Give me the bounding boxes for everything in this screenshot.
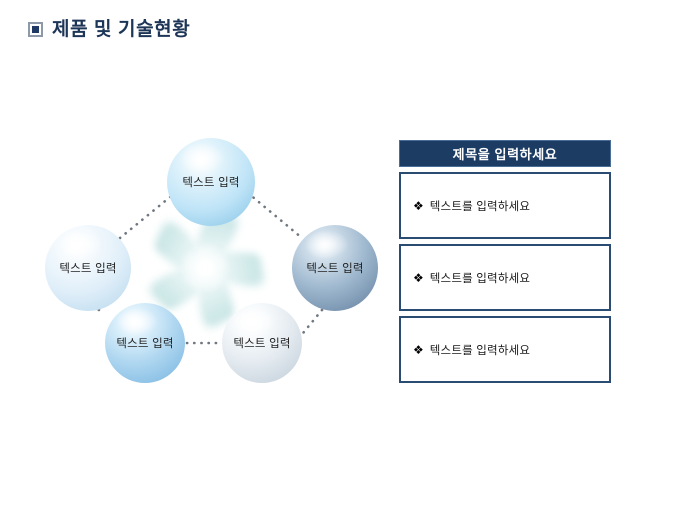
diagram-node-bottom-right[interactable]: 텍스트 입력 [222,303,302,383]
panel-box-text: 텍스트를 입력하세요 [430,342,530,358]
diagram-node-top[interactable]: 텍스트 입력 [167,138,255,226]
square-in-square-icon [28,22,43,37]
panel-box-text: 텍스트를 입력하세요 [430,198,530,214]
diagram-node-label: 텍스트 입력 [306,260,363,276]
five-node-cycle-diagram: 텍스트 입력 텍스트 입력 텍스트 입력 텍스트 입력 텍스트 입력 [40,130,370,420]
diagram-node-label: 텍스트 입력 [182,174,239,190]
text-panel: 제목을 입력하세요 ❖ 텍스트를 입력하세요 ❖ 텍스트를 입력하세요 ❖ 텍스… [399,140,611,383]
page-title-text: 제품 및 기술현황 [52,20,190,39]
panel-box-1[interactable]: ❖ 텍스트를 입력하세요 [399,172,611,239]
panel-box-3[interactable]: ❖ 텍스트를 입력하세요 [399,316,611,383]
diagram-node-label: 텍스트 입력 [116,335,173,351]
panel-box-2[interactable]: ❖ 텍스트를 입력하세요 [399,244,611,311]
diagram-node-right[interactable]: 텍스트 입력 [292,225,378,311]
diagram-node-label: 텍스트 입력 [59,260,116,276]
panel-header[interactable]: 제목을 입력하세요 [399,140,611,167]
page-title: 제품 및 기술현황 [28,20,190,39]
diamond-bullet-icon: ❖ [413,272,424,284]
panel-header-text: 제목을 입력하세요 [453,144,558,163]
diagram-node-label: 텍스트 입력 [233,335,290,351]
panel-box-text: 텍스트를 입력하세요 [430,270,530,286]
diamond-bullet-icon: ❖ [413,200,424,212]
diagram-node-bottom-left[interactable]: 텍스트 입력 [105,303,185,383]
diamond-bullet-icon: ❖ [413,344,424,356]
diagram-node-left[interactable]: 텍스트 입력 [45,225,131,311]
